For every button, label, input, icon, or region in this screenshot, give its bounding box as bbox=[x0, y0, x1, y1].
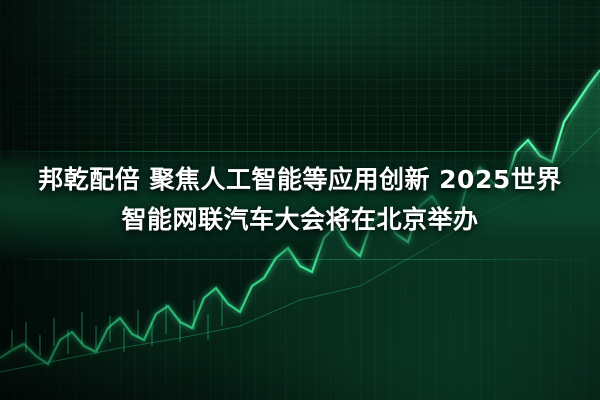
band-divider-bottom bbox=[0, 259, 600, 260]
headline-line-1: 邦乾配倍 聚焦人工智能等应用创新 2025世界 bbox=[38, 165, 562, 194]
headline: 邦乾配倍 聚焦人工智能等应用创新 2025世界 智能网联汽车大会将在北京举办 bbox=[0, 160, 600, 240]
promo-image: 邦乾配倍 聚焦人工智能等应用创新 2025世界 智能网联汽车大会将在北京举办 bbox=[0, 0, 600, 400]
headline-line-2: 智能网联汽车大会将在北京举办 bbox=[10, 200, 590, 240]
band-divider-top bbox=[0, 151, 600, 152]
